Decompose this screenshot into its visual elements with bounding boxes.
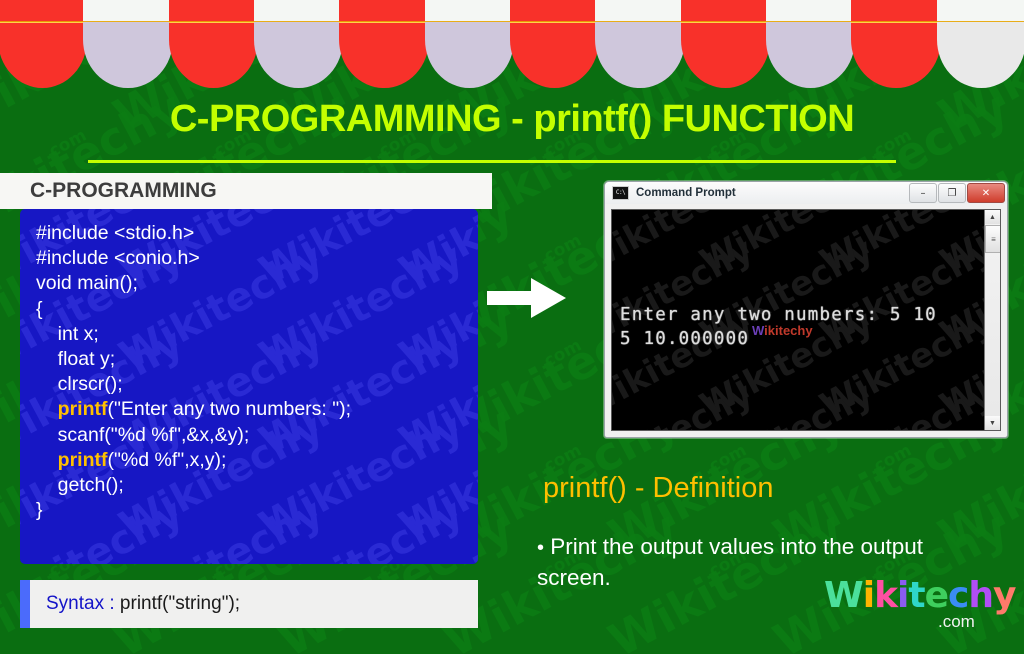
awning-stripe-top <box>339 0 428 23</box>
awning-stripe-top <box>0 0 87 23</box>
console-watermark: Wikitechy <box>752 323 813 338</box>
awning-stripe-top <box>595 0 684 22</box>
logo-letter: k <box>874 578 897 614</box>
awning-stripe <box>425 0 514 88</box>
code-keyword: printf <box>58 449 108 471</box>
awning-seam-line <box>0 21 1024 22</box>
minimize-button[interactable]: – <box>909 183 937 203</box>
awning-stripe <box>339 0 428 88</box>
awning-stripe <box>0 0 87 88</box>
title-underline <box>88 160 896 163</box>
code-line: clrscr(); <box>36 372 478 397</box>
syntax-accent-bar <box>20 580 30 628</box>
logo-letter: i <box>897 578 908 614</box>
scroll-up-icon[interactable]: ▲ <box>985 210 1000 224</box>
awning-stripe <box>595 0 684 88</box>
maximize-button[interactable]: ❐ <box>938 183 966 203</box>
command-prompt-titlebar[interactable]: C:\ Command Prompt – ❐ ✕ <box>605 182 1007 204</box>
watermark-tile-suffix: .com <box>535 230 585 269</box>
awning-stripe-top <box>425 0 514 22</box>
awning-stripe-top <box>681 0 770 23</box>
watermark-tile-suffix: .com <box>535 335 585 374</box>
logo-letter: c <box>948 578 968 614</box>
code-line: { <box>36 297 478 322</box>
watermark-tile-suffix: .com <box>700 650 750 654</box>
wikitechy-logo: Wikitechy <box>824 578 1015 614</box>
code-line: #include <conio.h> <box>36 246 478 271</box>
logo-letter: y <box>993 578 1015 614</box>
watermark-tile-suffix: .com <box>865 440 915 479</box>
logo-letter: e <box>925 578 948 614</box>
syntax-value: printf("string"); <box>120 593 240 614</box>
code-line: } <box>36 498 478 523</box>
syntax-box: Syntax : printf("string"); <box>20 580 478 628</box>
awning-decoration <box>0 0 1024 95</box>
code-line: #include <stdio.h> <box>36 221 478 246</box>
awning-stripe-top <box>510 0 599 23</box>
syntax-text: Syntax : printf("string"); <box>20 593 240 615</box>
command-prompt-window[interactable]: C:\ Command Prompt – ❐ ✕ WikitechyWikite… <box>604 181 1008 438</box>
definition-title: printf() - Definition <box>543 472 773 505</box>
page-title-container: C-PROGRAMMING - printf() FUNCTION <box>0 100 1024 138</box>
code-line: float y; <box>36 347 478 372</box>
awning-stripe-top <box>851 0 940 23</box>
code-line: printf("%d %f",x,y); <box>36 448 478 473</box>
bullet-icon: • <box>537 537 544 559</box>
awning-stripe-top <box>766 0 855 22</box>
logo-letter: t <box>908 578 924 614</box>
code-line: void main(); <box>36 271 478 296</box>
wikitechy-logo-suffix: .com <box>938 612 975 632</box>
awning-stripe-top <box>254 0 343 22</box>
scroll-down-icon[interactable]: ▼ <box>985 416 1000 430</box>
awning-stripe <box>681 0 770 88</box>
code-line: getch(); <box>36 473 478 498</box>
awning-stripe <box>766 0 855 88</box>
code-panel-header: C-PROGRAMMING <box>0 173 492 209</box>
code-lines: #include <stdio.h>#include <conio.h>void… <box>20 209 478 523</box>
code-keyword: printf <box>58 398 108 420</box>
watermark-tile-suffix: .com <box>370 650 420 654</box>
awning-stripe <box>169 0 258 88</box>
awning-stripe <box>83 0 172 88</box>
command-prompt-title: Command Prompt <box>636 187 736 199</box>
command-prompt-console[interactable]: WikitechyWikitechyWikitechyWikitechyWiki… <box>611 209 1001 431</box>
watermark-tile-suffix: .com <box>865 650 915 654</box>
awning-stripe <box>851 0 940 88</box>
awning-stripe <box>510 0 599 88</box>
close-button[interactable]: ✕ <box>967 183 1005 203</box>
console-scrollbar[interactable]: ▲ ≡ ▼ <box>984 210 1000 430</box>
logo-letter: h <box>968 578 993 614</box>
page-title: C-PROGRAMMING - printf() FUNCTION <box>0 100 1024 138</box>
awning-stripe-top <box>937 0 1024 22</box>
scrollbar-thumb[interactable]: ≡ <box>985 225 1001 253</box>
awning-stripe-top <box>83 0 172 22</box>
code-block: WikitechyWikitechyWikitechyWikitechyWiki… <box>20 209 478 564</box>
logo-letter: i <box>863 578 874 614</box>
flow-arrow-icon <box>487 278 567 318</box>
logo-letter: W <box>824 578 863 614</box>
cmd-app-icon: C:\ <box>612 186 629 200</box>
watermark-tile-suffix: .com <box>40 650 90 654</box>
awning-stripe-top <box>169 0 258 23</box>
syntax-label: Syntax : <box>46 593 120 614</box>
code-line: printf("Enter any two numbers: "); <box>36 397 478 422</box>
watermark-tile-suffix: .com <box>535 650 585 654</box>
awning-stripe <box>937 0 1024 88</box>
watermark-tile-suffix: .com <box>205 650 255 654</box>
code-line: scanf("%d %f",&x,&y); <box>36 423 478 448</box>
code-panel-header-label: C-PROGRAMMING <box>0 179 217 203</box>
awning-stripe <box>254 0 343 88</box>
window-controls[interactable]: – ❐ ✕ <box>909 183 1005 203</box>
code-line: int x; <box>36 322 478 347</box>
